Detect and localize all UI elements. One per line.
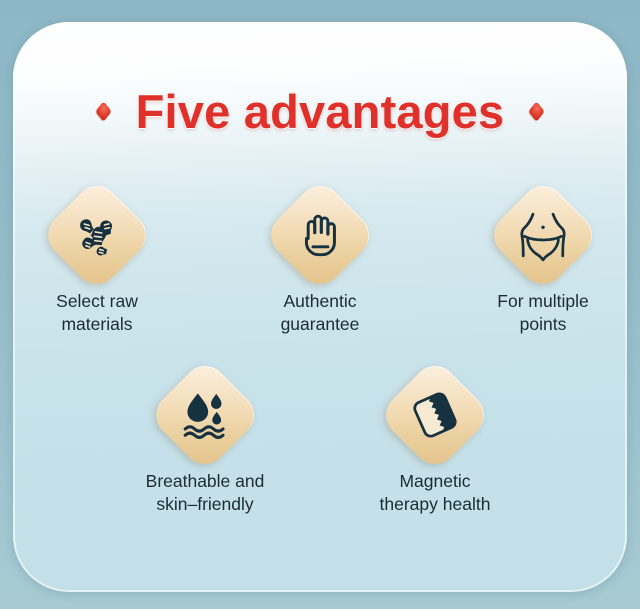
feature-authentic-guarantee[interactable]: Authentic guarantee bbox=[236, 194, 404, 336]
feature-row-bottom: Breathable and skin–friendly Magnetic th… bbox=[13, 374, 627, 516]
page-backdrop: Five advantages bbox=[0, 0, 640, 609]
feature-tile bbox=[485, 177, 601, 293]
feature-breathable-skin-friendly[interactable]: Breathable and skin–friendly bbox=[118, 374, 293, 516]
diamond-dot-icon-left bbox=[95, 101, 111, 121]
feature-magnetic-therapy-health[interactable]: Magnetic therapy health bbox=[348, 374, 523, 516]
feature-label: Select raw materials bbox=[56, 290, 138, 336]
ginger-root-icon bbox=[60, 198, 134, 272]
feature-tile bbox=[262, 177, 378, 293]
feature-label: Magnetic therapy health bbox=[380, 470, 491, 516]
magnet-patch-icon bbox=[398, 378, 472, 452]
feature-label: For multiple points bbox=[497, 290, 588, 336]
feature-for-multiple-points[interactable]: For multiple points bbox=[459, 194, 627, 336]
waist-belly-icon bbox=[506, 198, 580, 272]
diamond-dot-icon-right bbox=[529, 101, 545, 121]
feature-tile bbox=[377, 357, 493, 473]
water-drop-waves-icon bbox=[168, 378, 242, 452]
feature-tile bbox=[147, 357, 263, 473]
feature-tile bbox=[39, 177, 155, 293]
open-hand-icon bbox=[283, 198, 357, 272]
advantages-card: Five advantages bbox=[13, 22, 627, 592]
feature-row-top: Select raw materials Authentic guara bbox=[13, 194, 627, 336]
feature-label: Breathable and skin–friendly bbox=[146, 470, 265, 516]
feature-select-raw-materials[interactable]: Select raw materials bbox=[13, 194, 181, 336]
card-header: Five advantages bbox=[13, 84, 627, 139]
feature-label: Authentic guarantee bbox=[281, 290, 360, 336]
page-title: Five advantages bbox=[136, 84, 505, 139]
